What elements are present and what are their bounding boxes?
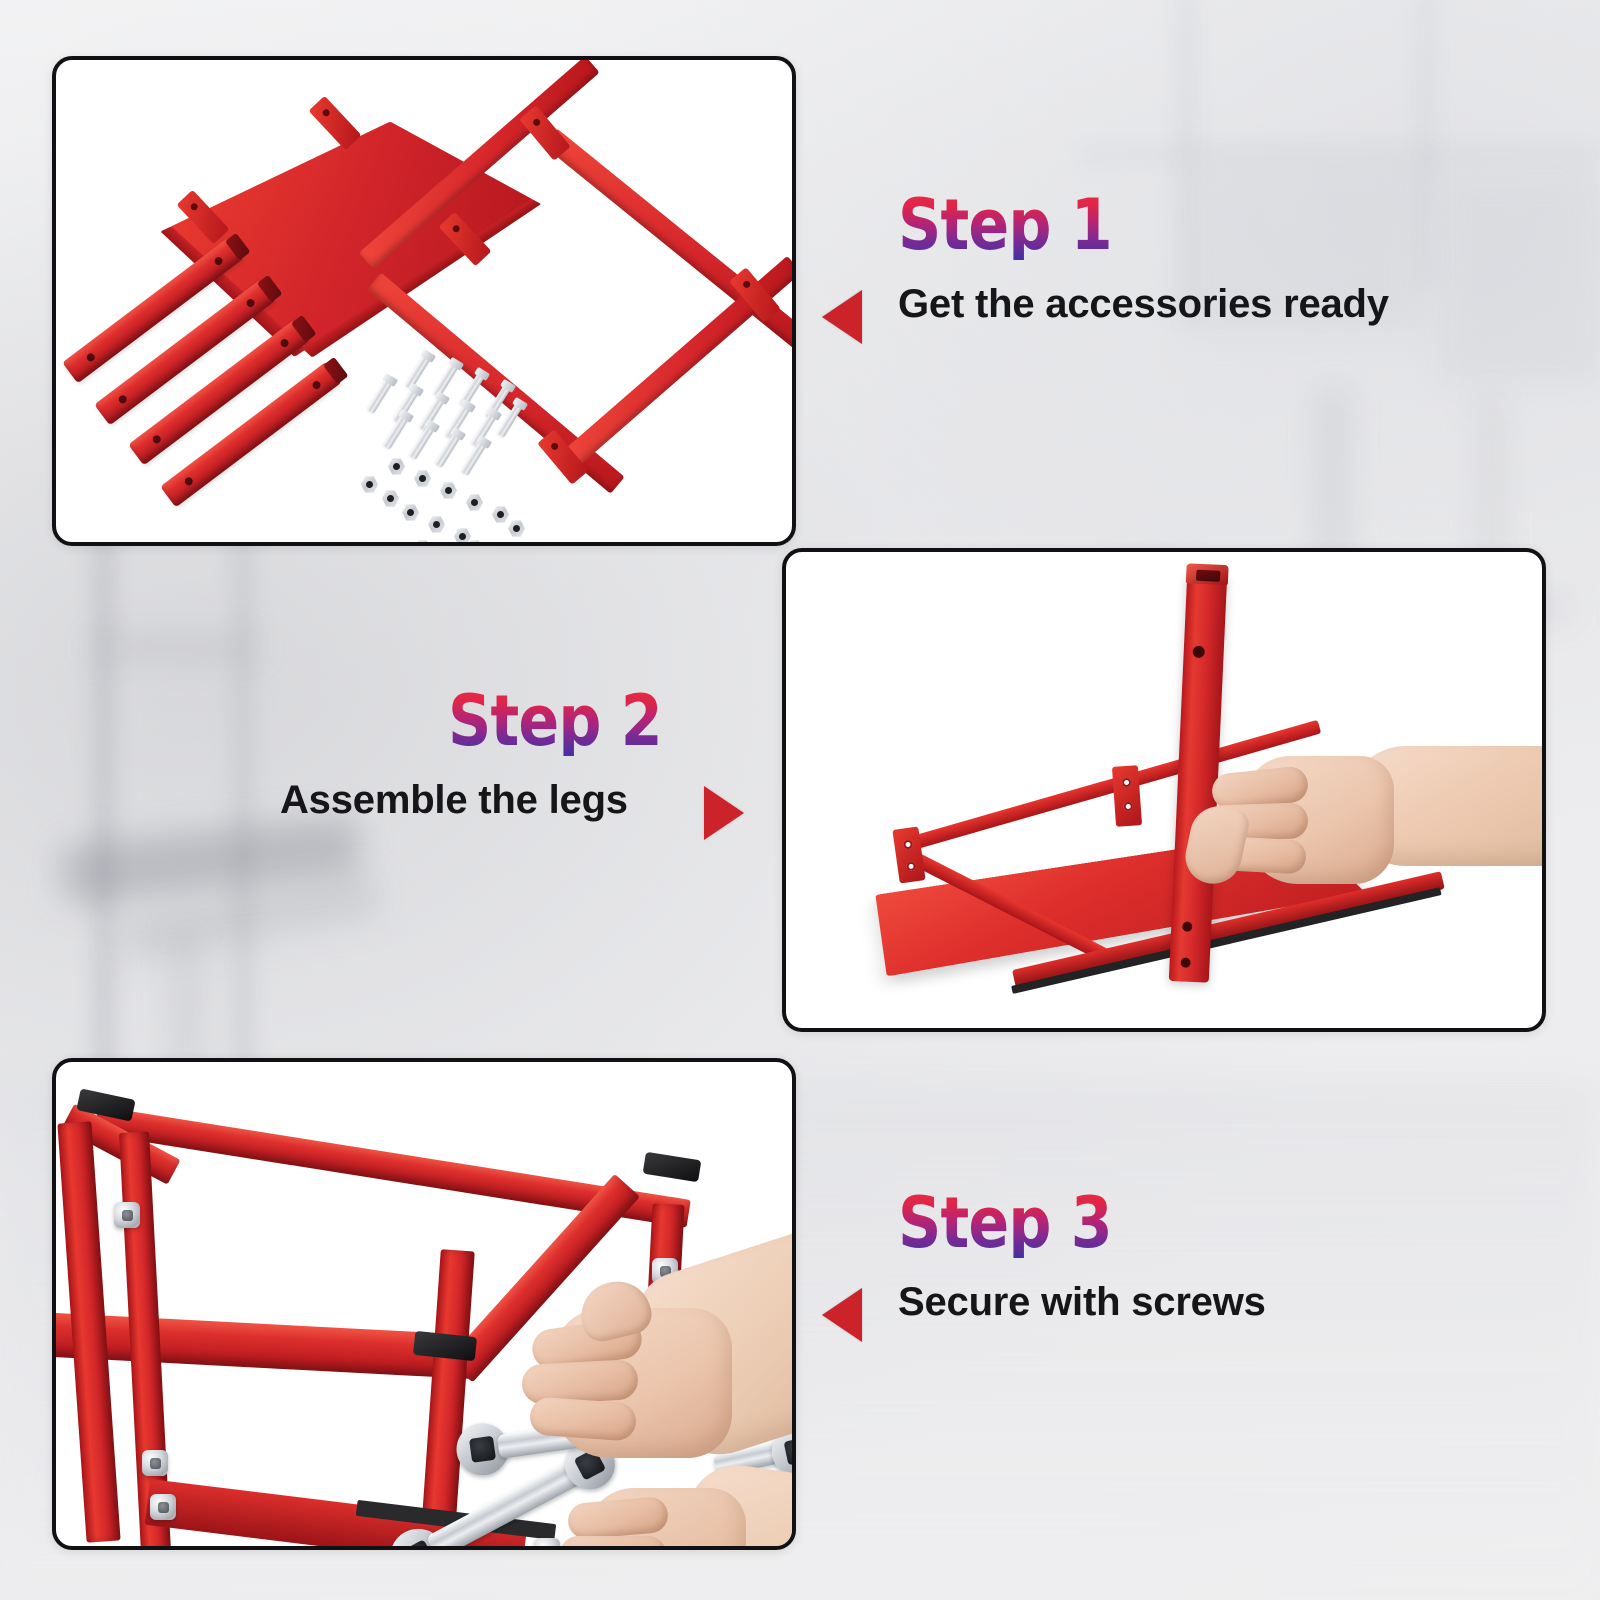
nut: [454, 528, 471, 545]
background-window-frame: [1080, 150, 1600, 160]
finger: [521, 1359, 639, 1405]
leg-bolt-hole: [1192, 646, 1205, 659]
nut: [414, 540, 431, 546]
frame-rail: [543, 128, 796, 353]
end-cap: [643, 1152, 702, 1182]
step-3-title: Step 3: [898, 1188, 1450, 1258]
exploded-parts-photo: [56, 60, 792, 542]
nut: [402, 504, 419, 521]
nut: [492, 506, 509, 523]
bolt: [367, 379, 393, 414]
step-2-description: Assemble the legs: [280, 778, 840, 823]
step-3-text-block: Step 3 Secure with screws: [840, 1188, 1540, 1368]
leg-hole: [311, 379, 322, 390]
tab-hole: [189, 202, 199, 212]
nut-group: [356, 452, 556, 546]
leg-hole: [183, 476, 194, 487]
step-3-image-panel: [52, 1058, 796, 1550]
bolt: [405, 355, 431, 390]
step-3-description: Secure with screws: [898, 1280, 1540, 1325]
leg-hole: [213, 255, 224, 266]
hand-graphic: [1166, 738, 1546, 928]
tightening-screws-photo: [56, 1062, 792, 1546]
nut: [440, 482, 457, 499]
background-rack-crossbar: [95, 640, 255, 654]
nut: [428, 516, 445, 533]
thumb: [1181, 801, 1252, 889]
leg-hole: [245, 297, 256, 308]
leg-bolt-hole: [1180, 957, 1190, 967]
tab-hole: [741, 280, 751, 290]
tray-mount-tab: [309, 96, 362, 150]
bolt-nut: [114, 1202, 140, 1228]
triangle-right-icon: [704, 786, 744, 840]
step-2-title: Step 2: [448, 686, 785, 756]
step-1-text-block: Step 1 Get the accessories ready: [840, 190, 1540, 370]
finger: [529, 1396, 637, 1441]
step-1-description: Get the accessories ready: [898, 282, 1540, 327]
step-2-image-panel: [782, 548, 1546, 1032]
nut: [414, 470, 431, 487]
leg-hole: [151, 434, 162, 445]
finger: [560, 1536, 666, 1550]
triangle-left-icon: [822, 1288, 862, 1342]
bolt: [497, 403, 523, 438]
nut: [388, 458, 405, 475]
leg-tube-opening: [1196, 570, 1220, 582]
nut: [361, 476, 378, 493]
bolt-nut: [150, 1494, 176, 1520]
leg-hole: [117, 394, 128, 405]
step-1-title: Step 1: [898, 190, 1450, 260]
nut: [508, 520, 525, 537]
leg-assembly-photo: [786, 552, 1542, 1028]
triangle-left-icon: [822, 290, 862, 344]
nut: [466, 494, 483, 511]
step-1-image-panel: [52, 56, 796, 546]
hand-graphic-lower: [542, 1466, 796, 1550]
tab-hole: [531, 118, 541, 128]
tab-hole: [321, 108, 331, 118]
leg-hole: [279, 337, 290, 348]
nut: [382, 490, 399, 507]
step-2-text-block: Step 2 Assemble the legs: [280, 686, 840, 866]
leg-hole: [85, 352, 96, 363]
bolt-nut: [142, 1450, 168, 1476]
